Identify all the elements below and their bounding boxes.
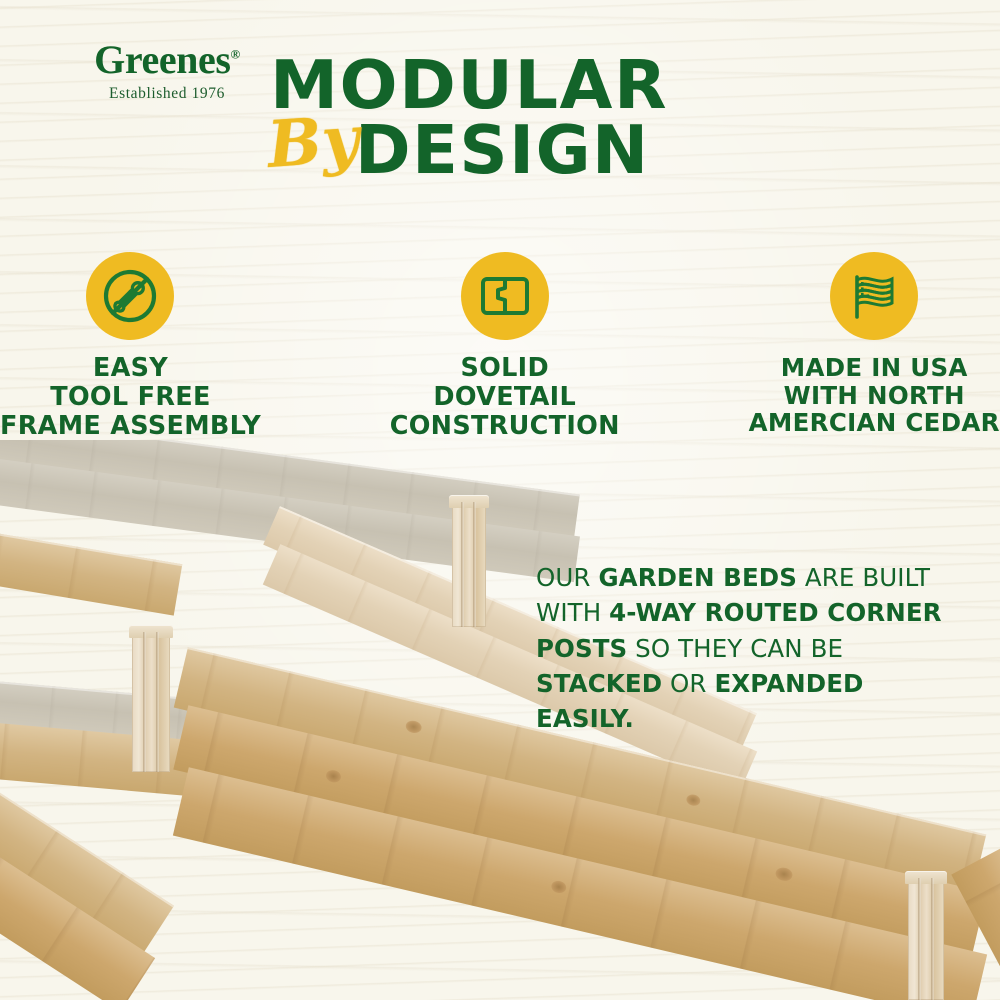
post-cap	[129, 625, 173, 638]
post-cap	[449, 495, 489, 508]
garden-bed-board	[0, 516, 182, 615]
usa-flag-icon	[830, 252, 918, 340]
post-groove	[473, 502, 476, 627]
brand-name-text: Greenes	[94, 37, 230, 82]
feature-line: CONSTRUCTION	[390, 412, 620, 441]
body-copy-run: SO THEY CAN BE	[627, 634, 843, 663]
feature-dovetail: SOLID DOVETAIL CONSTRUCTION	[379, 252, 631, 440]
routed-corner-post	[132, 632, 170, 772]
brand-logo: Greenes® Established 1976	[52, 40, 282, 103]
no-tools-icon	[86, 252, 174, 340]
feature-line: AMERCIAN CEDAR	[749, 409, 1000, 437]
dovetail-joint-icon	[461, 252, 549, 340]
feature-line: WITH NORTH	[749, 382, 1000, 410]
post-groove	[461, 502, 464, 627]
post-groove	[156, 632, 159, 772]
headline-script-by: By	[266, 108, 362, 178]
body-copy-emphasis: GARDEN BEDS	[598, 563, 797, 592]
feature-line: MADE IN USA	[749, 354, 1000, 382]
post-groove	[918, 878, 921, 1000]
feature-line: DOVETAIL	[390, 383, 620, 412]
feature-tool-free: EASY TOOL FREE FRAME ASSEMBLY	[0, 252, 261, 440]
feature-line: EASY	[0, 354, 261, 383]
body-copy-run: OR	[662, 669, 714, 698]
wood-knot	[550, 879, 567, 894]
routed-corner-post	[452, 502, 486, 627]
post-cap	[905, 871, 947, 884]
wood-knot	[774, 866, 794, 883]
wood-knot	[405, 719, 423, 734]
body-copy-text: OUR GARDEN BEDS ARE BUILT WITH 4-WAY ROU…	[536, 563, 942, 733]
body-copy: OUR GARDEN BEDS ARE BUILT WITH 4-WAY ROU…	[536, 560, 966, 736]
post-groove	[143, 632, 146, 772]
body-copy-run: OUR	[536, 563, 598, 592]
feature-tool-free-label: EASY TOOL FREE FRAME ASSEMBLY	[0, 354, 261, 440]
headline: MODULAR DESIGN By	[262, 52, 782, 212]
body-copy-emphasis: STACKED	[536, 669, 662, 698]
routed-corner-post	[908, 878, 944, 1000]
brand-tagline: Established 1976	[52, 85, 282, 103]
feature-dovetail-label: SOLID DOVETAIL CONSTRUCTION	[390, 354, 620, 440]
promo-graphic: Greenes® Established 1976 MODULAR DESIGN…	[0, 0, 1000, 1000]
brand-name: Greenes®	[94, 40, 240, 80]
wood-knot	[325, 769, 342, 784]
feature-made-in-usa: MADE IN USA WITH NORTH AMERCIAN CEDAR	[748, 252, 1000, 440]
post-groove	[931, 878, 934, 1000]
feature-line: TOOL FREE	[0, 383, 261, 412]
registered-trademark-icon: ®	[231, 47, 240, 62]
feature-made-in-usa-label: MADE IN USA WITH NORTH AMERCIAN CEDAR	[749, 354, 1000, 437]
feature-list: EASY TOOL FREE FRAME ASSEMBLY SOLID DOVE…	[0, 252, 1000, 440]
headline-line-design: DESIGN	[355, 117, 650, 184]
wood-knot	[685, 793, 701, 807]
feature-line: FRAME ASSEMBLY	[0, 412, 261, 441]
feature-line: SOLID	[390, 354, 620, 383]
